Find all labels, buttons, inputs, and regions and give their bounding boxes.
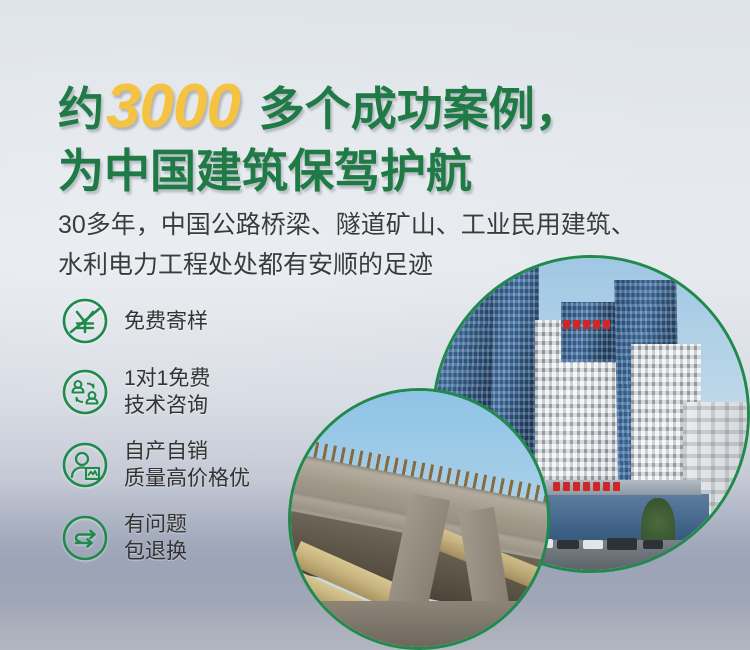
feature-line-1: 有问题 (124, 513, 187, 536)
feature-text: 免费寄样 (124, 308, 208, 335)
feature-item-one-on-one[interactable]: 1对1免费 技术咨询 (60, 365, 250, 419)
feature-line-2: 质量高价格优 (124, 465, 250, 492)
subcopy-line-2: 水利电力工程处处都有安顺的足迹 (58, 245, 738, 285)
feature-line-2: 技术咨询 (124, 392, 210, 419)
headline-line-2: 为中国建筑保驾护航 (58, 142, 718, 200)
promo-banner: 约3000 多个成功案例， 为中国建筑保驾护航 30多年，中国公路桥梁、隧道矿山… (0, 0, 750, 650)
feature-line-1: 1对1免费 (124, 367, 210, 390)
feature-line-2: 包退换 (124, 538, 187, 565)
feature-text: 自产自销 质量高价格优 (124, 438, 250, 492)
feature-line-1: 免费寄样 (124, 310, 208, 333)
self-production-icon (60, 440, 110, 490)
headline: 约3000 多个成功案例， 为中国建筑保驾护航 (58, 78, 718, 200)
one-on-one-icon (60, 367, 110, 417)
feature-text: 有问题 包退换 (124, 511, 187, 565)
return-exchange-icon (60, 513, 110, 563)
headline-line-1: 约3000 多个成功案例， (58, 78, 718, 138)
feature-list: 免费寄样 1对1免费 技术咨询 (60, 296, 250, 584)
subcopy-line-1: 30多年，中国公路桥梁、隧道矿山、工业民用建筑、 (58, 205, 738, 245)
subcopy: 30多年，中国公路桥梁、隧道矿山、工业民用建筑、 水利电力工程处处都有安顺的足迹 (58, 205, 738, 285)
feature-line-1: 自产自销 (124, 440, 208, 463)
headline-suffix: 多个成功案例， (246, 83, 581, 135)
headline-number: 3000 (104, 72, 246, 141)
feature-item-return-exchange[interactable]: 有问题 包退换 (60, 511, 250, 565)
headline-prefix: 约 (58, 83, 104, 135)
feature-item-self-production[interactable]: 自产自销 质量高价格优 (60, 438, 250, 492)
free-sample-icon (60, 296, 110, 346)
feature-item-free-sample[interactable]: 免费寄样 (60, 296, 250, 346)
photo-bridge (288, 388, 550, 650)
feature-text: 1对1免费 技术咨询 (124, 365, 210, 419)
